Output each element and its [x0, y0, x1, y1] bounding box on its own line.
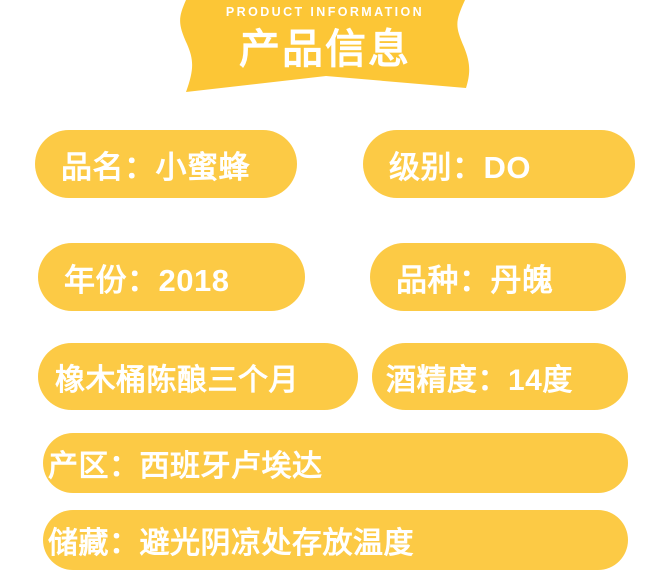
banner-shape	[0, 0, 650, 96]
info-pill-label: 级别：DO	[363, 142, 531, 187]
info-pill-label: 品名：小蜜蜂	[35, 142, 250, 187]
info-pill-oak-aging: 橡木桶陈酿三个月	[38, 343, 358, 410]
info-pill-label: 产区：西班牙卢埃达	[43, 441, 323, 485]
info-pill-label: 年份：2018	[38, 255, 229, 300]
info-pill-grade: 级别：DO	[363, 130, 635, 198]
info-pill-grape-variety: 品种：丹魄	[370, 243, 626, 311]
info-pill-product-name: 品名：小蜜蜂	[35, 130, 297, 198]
info-pill-label: 橡木桶陈酿三个月	[38, 355, 299, 399]
info-pill-region: 产区：西班牙卢埃达	[43, 433, 628, 493]
info-pill-label: 品种：丹魄	[370, 255, 554, 300]
info-pill-label: 酒精度：14度	[372, 355, 573, 399]
info-pill-cropped-row: 储藏：避光阴凉处存放温度	[43, 510, 628, 570]
product-information-banner: PRODUCT INFORMATION 产品信息	[0, 0, 650, 96]
info-pill-vintage-year: 年份：2018	[38, 243, 305, 311]
info-pill-alcohol-content: 酒精度：14度	[372, 343, 628, 410]
info-pill-label: 储藏：避光阴凉处存放温度	[43, 518, 414, 562]
